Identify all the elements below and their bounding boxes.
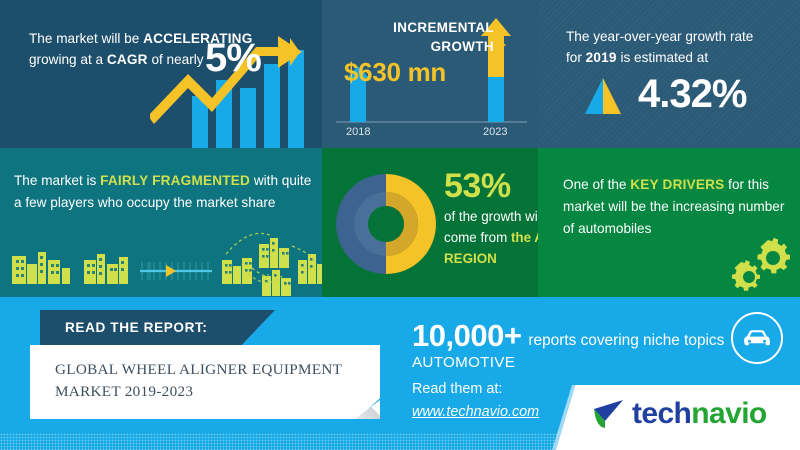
incremental-growth-value: $630 mn [344, 57, 446, 88]
panel-cagr: The market will be ACCELERATING growing … [0, 0, 322, 148]
fragmentation-city-graphic [0, 224, 322, 297]
fragmentation-highlight: FAIRLY FRAGMENTED [100, 173, 250, 188]
yoy-statement: The year-over-year growth rate for 2019 … [566, 26, 788, 68]
panel-fragmentation: The market is FAIRLY FRAGMENTED with qui… [0, 148, 322, 297]
apac-donut-chart [332, 170, 440, 278]
logo-navio: navio [691, 397, 766, 430]
cagr-value: 5% [205, 38, 261, 78]
category-label: AUTOMOTIVE [412, 354, 515, 371]
key-drivers-highlight: KEY DRIVERS [630, 177, 724, 192]
cagr-line2-c: of nearly [148, 52, 204, 67]
reports-count: 10,000+ [412, 318, 521, 353]
report-title: GLOBAL WHEEL ALIGNER EQUIPMENT MARKET 20… [55, 359, 365, 403]
technavio-arrow-icon [592, 398, 625, 429]
gears-icon [728, 236, 790, 294]
car-icon [729, 310, 785, 366]
apac-share-description: of the growth will come from the APAC RE… [444, 206, 538, 269]
report-title-card[interactable]: GLOBAL WHEEL ALIGNER EQUIPMENT MARKET 20… [30, 345, 380, 419]
panel-key-drivers: One of the KEY DRIVERS for this market w… [538, 148, 800, 297]
reports-count-caption: reports covering niche topics [521, 332, 724, 349]
panel-apac-share: 53% of the growth will come from the APA… [322, 148, 538, 297]
axis-label-end-year: 2023 [483, 126, 507, 138]
incremental-title-line1: INCREMENTAL [393, 20, 494, 35]
technavio-wordmark: technavio [632, 399, 767, 429]
yoy-year: 2019 [586, 50, 617, 65]
incremental-growth-title: INCREMENTAL GROWTH [344, 18, 494, 56]
fragmentation-text-a: The market is [14, 173, 100, 188]
apac-share-value: 53% [444, 168, 511, 204]
growth-triangle-icon [583, 78, 623, 114]
read-them-at-label: Read them at: [412, 381, 502, 397]
fragmentation-statement: The market is FAIRLY FRAGMENTED with qui… [14, 170, 314, 214]
caret-right-icon [498, 40, 506, 50]
logo-tech: tech [632, 397, 691, 430]
yoy-line2-a: for [566, 50, 586, 65]
cagr-line2-a: growing at a [29, 52, 107, 67]
reports-count-line: 10,000+reports covering niche topics [412, 318, 724, 354]
drivers-text-a: One of the [563, 177, 630, 192]
cagr-label: CAGR [107, 52, 148, 67]
yoy-line2-c: is estimated at [617, 50, 708, 65]
read-the-report-label: READ THE REPORT: [65, 320, 208, 335]
yoy-value: 4.32% [638, 72, 746, 116]
key-drivers-statement: One of the KEY DRIVERS for this market w… [563, 174, 788, 240]
cagr-line1-a: The market will be [29, 31, 143, 46]
infographic-canvas: The market will be ACCELERATING growing … [0, 0, 800, 450]
yoy-line1: The year-over-year growth rate [566, 29, 753, 44]
panel-incremental-growth: INCREMENTAL GROWTH $630 mn 2018 2023 [322, 0, 538, 148]
read-the-report-banner: READ THE REPORT: [40, 310, 275, 347]
panel-yoy-growth: The year-over-year growth rate for 2019 … [538, 0, 800, 148]
technavio-logo[interactable]: technavio [592, 398, 767, 429]
website-link[interactable]: www.technavio.com [412, 404, 539, 420]
incremental-title-line2: GROWTH [431, 39, 494, 54]
axis-label-start-year: 2018 [346, 126, 370, 138]
